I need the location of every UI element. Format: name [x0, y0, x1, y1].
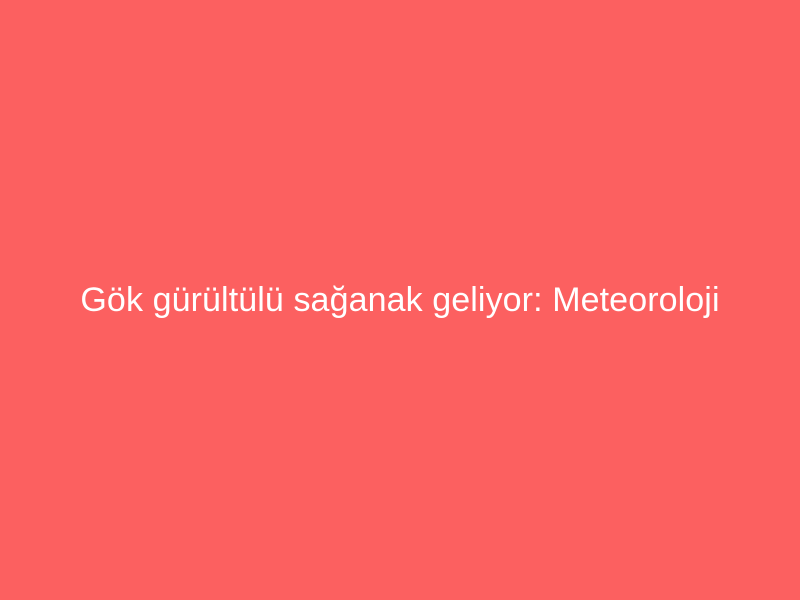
- headline-title: Gök gürültülü sağanak geliyor: Meteorolo…: [24, 280, 776, 320]
- headline-block: Gök gürültülü sağanak geliyor: Meteorolo…: [0, 280, 800, 320]
- placeholder-canvas: Gök gürültülü sağanak geliyor: Meteorolo…: [0, 0, 800, 600]
